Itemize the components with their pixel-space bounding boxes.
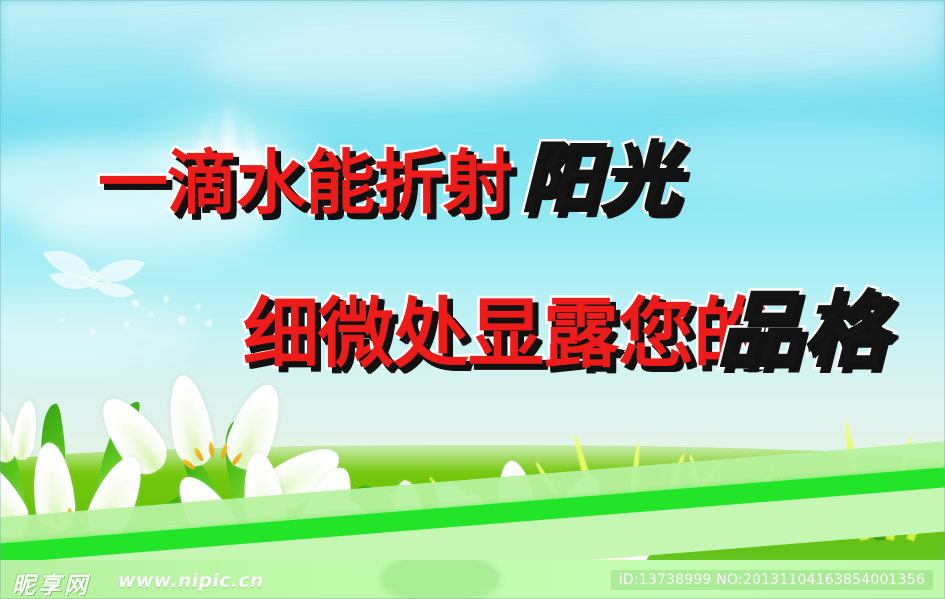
watermark-footer-bar: 昵享网 www.nipic.cn ID:13738999 NO:20131104…: [0, 560, 945, 599]
cloud-puff: [640, 120, 945, 200]
headline-line2-accent: 品格: [716, 288, 888, 372]
watermark-id-text: ID:13738999 NO:20131104163854001356: [611, 570, 933, 590]
headline-line1-accent: 阳光: [520, 140, 680, 218]
headline-line1-red: 一滴水能折射: [98, 148, 512, 218]
poster-image: 一滴水能折射 阳光 细微处显露您的 品格 昵享网 www.nipic.cn ID…: [0, 0, 945, 599]
watermark-url[interactable]: www.nipic.cn: [118, 570, 264, 592]
headline-line2-red: 细微处显露您的: [243, 296, 768, 372]
butterfly-icon: [30, 245, 150, 320]
watermark-logo: 昵享网: [12, 566, 90, 599]
lily-bud: [0, 400, 50, 470]
cloud-puff: [560, 8, 940, 78]
footer-ghost-shape: [380, 560, 500, 599]
